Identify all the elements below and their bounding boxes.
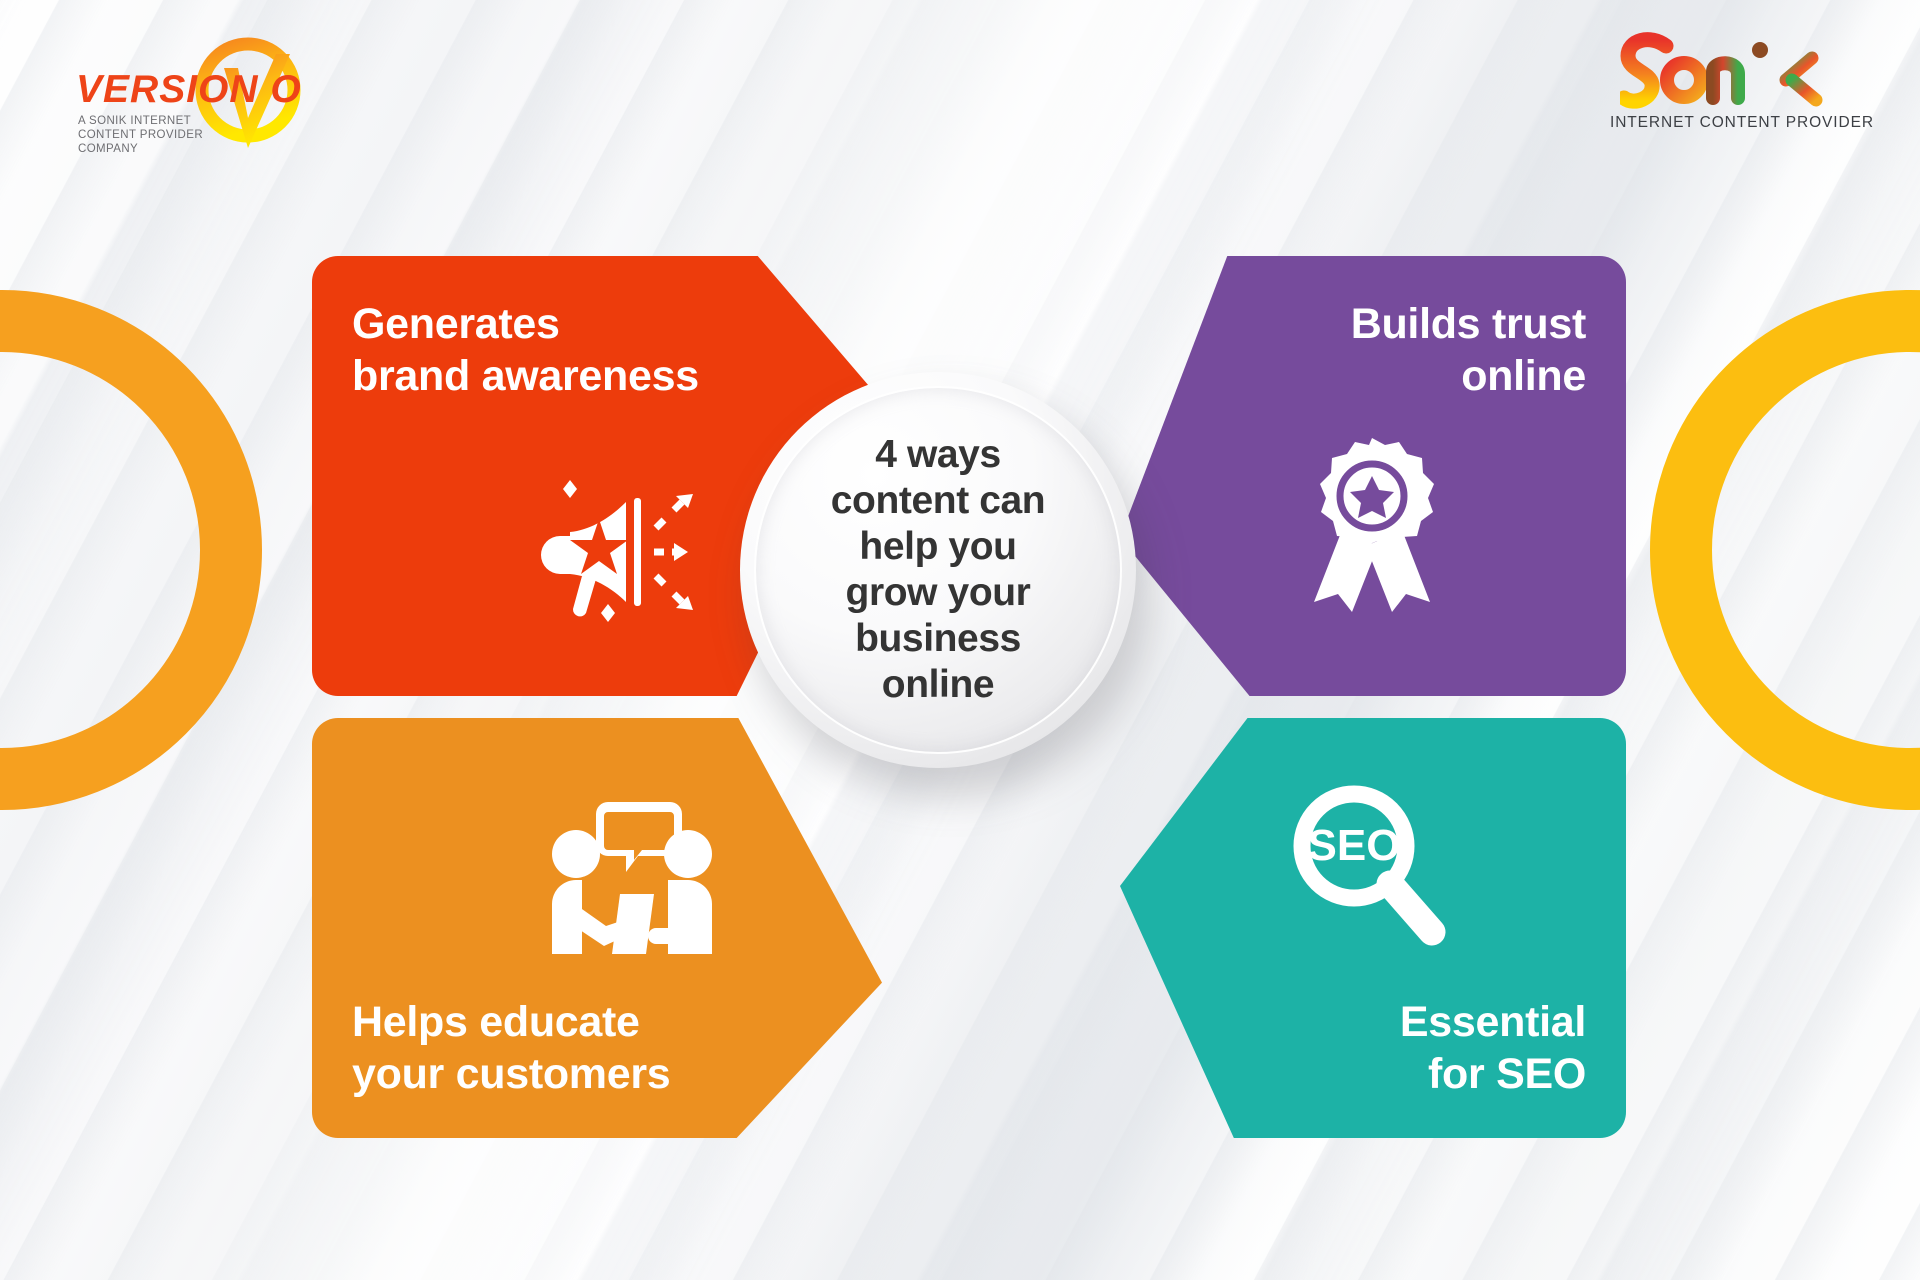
seo-icon-label: SEO xyxy=(1308,821,1401,870)
sonik-tagline: INTERNET CONTENT PROVIDER xyxy=(1610,114,1850,132)
card-title-essential-for-seo: Essential for SEO xyxy=(1400,996,1586,1100)
center-circle: 4 ways content can help you grow your bu… xyxy=(740,372,1136,768)
version-o-logo: VERSION O A SONIK INTERNET CONTENT PROVI… xyxy=(76,30,326,170)
version-o-wordmark: VERSION O xyxy=(76,68,302,112)
sonik-logo: INTERNET CONTENT PROVIDER xyxy=(1610,28,1850,156)
version-o-tagline: A SONIK INTERNET CONTENT PROVIDER COMPAN… xyxy=(78,114,228,156)
card-title-builds-trust-online: Builds trust online xyxy=(1351,298,1586,402)
center-headline: 4 ways content can help you grow your bu… xyxy=(803,432,1073,708)
infographic-canvas: VERSION O A SONIK INTERNET CONTENT PROVI… xyxy=(0,0,1920,1280)
card-title-generates-brand-awareness: Generates brand awareness xyxy=(352,298,699,402)
card-title-helps-educate-your-customers: Helps educate your customers xyxy=(352,996,670,1100)
megaphone-icon xyxy=(530,472,720,622)
sonik-colorful-wordmark xyxy=(1620,28,1840,120)
seo-magnifier-icon: SEO xyxy=(1286,780,1454,966)
award-ribbon-icon xyxy=(1292,434,1452,612)
people-discussion-icon xyxy=(542,798,722,968)
